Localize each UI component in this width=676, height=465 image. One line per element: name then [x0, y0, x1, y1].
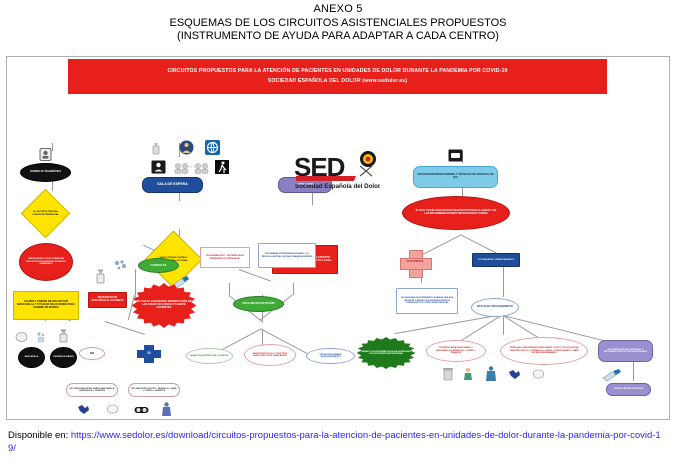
node-limpieza-entre-pacientes[interactable]: LIMPIEZA ENTRE PACIENTES	[606, 383, 651, 396]
reception-desk-icon	[150, 159, 166, 174]
title-line-2: ESQUEMAS DE LOS CIRCUITOS ASISTENCIALES …	[0, 17, 676, 29]
page-title: ANEXO 5 ESQUEMAS DE LOS CIRCUITOS ASISTE…	[0, 3, 676, 42]
node-consulta-telematica[interactable]: CONSULTA TELEMÁTICA	[20, 163, 71, 182]
operating-room-icon	[447, 148, 463, 162]
node-acudir-unidad-dolor[interactable]: ACUDIR A UNIDAD DE DOLOR CON MASCARILLA …	[13, 291, 79, 320]
mask-icon	[14, 330, 28, 343]
footer-prefix: Disponible en:	[8, 430, 71, 441]
node-si-test-covid[interactable]: SI TEST COVID SOLICITADOS SEGÚN PROTOCOL…	[402, 196, 510, 230]
node-consulta[interactable]: CONSULTA	[138, 258, 179, 273]
medical-gown-icon	[484, 365, 497, 381]
title-line-1: ANEXO 5	[0, 3, 676, 15]
handwash-person-icon	[462, 366, 476, 381]
red-banner: CIRCUITOS PROPUESTOS PARA LA ATENCIÓN DE…	[68, 59, 607, 94]
sanitizer-dispenser-icon	[149, 141, 162, 155]
node-higiene-manos[interactable]: HIGIENE DE MANOS	[50, 347, 77, 368]
node-epi-paciente[interactable]: EPI: MASCARILLA FFP2 + PANTALLA + BATA +…	[128, 383, 180, 397]
pcr-positiva-label: PCR POSITIVA	[400, 260, 430, 263]
connector	[229, 283, 230, 295]
sed-logo-tagline: Sociedad Española del Dolor	[295, 183, 380, 190]
node-protocolo-covid-test[interactable]: SEGÚN PROTOCOLO COVID TEST SEROLÓGICO/PC…	[244, 344, 296, 366]
connector	[105, 321, 145, 335]
title-line-3: (INSTRUMENTO DE AYUDA PARA ADAPTAR A CAD…	[0, 30, 676, 42]
surgical-mask-icon	[105, 402, 119, 415]
banner-line-1: CIRCUITOS PROPUESTOS PARA LA ATENCIÓN DE…	[167, 67, 507, 77]
connector	[135, 269, 136, 295]
node-recuperacion-quirofano[interactable]: RECUPERACIÓN DE QUIRÓFANO O RECUPERAR PR…	[598, 340, 653, 362]
source-caption: Disponible en: https://www.sedolor.es/do…	[8, 430, 668, 456]
node-fecha-aproximada[interactable]: FECHA APROXIMADA IQ/PROCEDIMIENTO	[306, 348, 355, 364]
node-epi-personal[interactable]: EPI PERSONAL DESECHABLE MASCARILLA QUIRÚ…	[66, 383, 118, 397]
hand-wash-icon	[34, 330, 48, 343]
diagram-frame: CIRCUITOS PROPUESTOS PARA LA ATENCIÓN DE…	[6, 56, 670, 420]
waiting-chairs-icon	[172, 161, 210, 174]
screenshot-root: ANEXO 5 ESQUEMAS DE LOS CIRCUITOS ASISTE…	[0, 0, 676, 465]
sanitizer-icon	[56, 328, 70, 343]
node-realizar-procedimiento[interactable]: REALIZAR PROCEDIMIENTO	[471, 298, 519, 317]
node-paciente-epi[interactable]: PACIENTE: BATA DESECHABLE + MASCARILLA Q…	[426, 340, 486, 362]
ffp2-mask-icon	[76, 402, 90, 415]
node-programacion-iq[interactable]: PROGRAMACIÓN INTERVENCIONISMO / IQ / TÉC…	[258, 243, 316, 268]
node-no-realizar-procedimiento[interactable]: NO REALIZAR PROCEDIMIENTO A MENOS QUE SE…	[396, 288, 458, 314]
cleaning-spray-icon-2	[600, 367, 622, 381]
branch-si-label: SI	[137, 351, 161, 355]
node-incluir-peticion[interactable]: INCLUIR EN PETICIÓN	[233, 296, 284, 312]
person-distance-icon	[178, 139, 194, 155]
source-url-link[interactable]: https://www.sedolor.es/download/circuito…	[8, 430, 661, 454]
node-necesidad-explorar-paciente[interactable]: NECESIDAD DE EXPLORAR AL PACIENTE	[88, 292, 127, 308]
surgical-mask-icon-2	[531, 367, 545, 380]
node-branch-si[interactable]: SI	[137, 345, 161, 363]
node-branch-no[interactable]: NO	[79, 347, 105, 360]
virus-particles-icon	[112, 258, 128, 272]
node-sala-de-espera[interactable]: SALA DE ESPERA	[142, 177, 203, 193]
node-triaje-riesgo-covid[interactable]: TRIAJE RIESGO COVID PONER MAS INDICACIÓN…	[19, 243, 73, 281]
ffp2-mask-icon-2	[507, 367, 521, 380]
connector	[503, 265, 504, 297]
waste-bin-icon	[441, 366, 454, 381]
sed-logo: SED Sociedad Española del Dolor	[294, 150, 390, 195]
node-personal-epi[interactable]: PERSONAL: UNIFORMIDAD DESECHABLE + FFP2 …	[500, 337, 588, 365]
node-programacion-nueva-visita[interactable]: PROGRAMACIÓN 1ª VISITA/REVISIÓN PREFERIB…	[200, 247, 250, 268]
connector	[239, 269, 271, 281]
globe-virus-icon	[204, 139, 220, 155]
node-mascarilla[interactable]: MASCARILLA	[18, 347, 45, 368]
walking-exit-icon	[214, 159, 229, 174]
gown-icon	[160, 401, 172, 416]
connector	[503, 315, 504, 335]
connector	[262, 329, 263, 345]
node-cirugia-intervencionismo[interactable]: CIRUGÍA/INTERVENCIONISMO Y TÉCNICAS DE H…	[413, 166, 498, 188]
banner-line-2: SOCIEDAD ESPAÑOLA DEL DOLOR (www.sedolor…	[268, 77, 407, 87]
node-analitica-extraccion[interactable]: ANALÍTICA EXTRACCIÓN CON DE AP	[186, 348, 233, 364]
connector	[293, 283, 294, 295]
node-pcr-positiva[interactable]: PCR POSITIVA	[400, 250, 430, 276]
sanitizer-bottle-icon	[93, 268, 107, 284]
goggles-icon	[133, 404, 149, 415]
video-call-icon	[37, 147, 53, 161]
node-pcr-negativa[interactable]: PCR NEGATIVA / TRIAJE NEGATIVO	[472, 253, 520, 267]
